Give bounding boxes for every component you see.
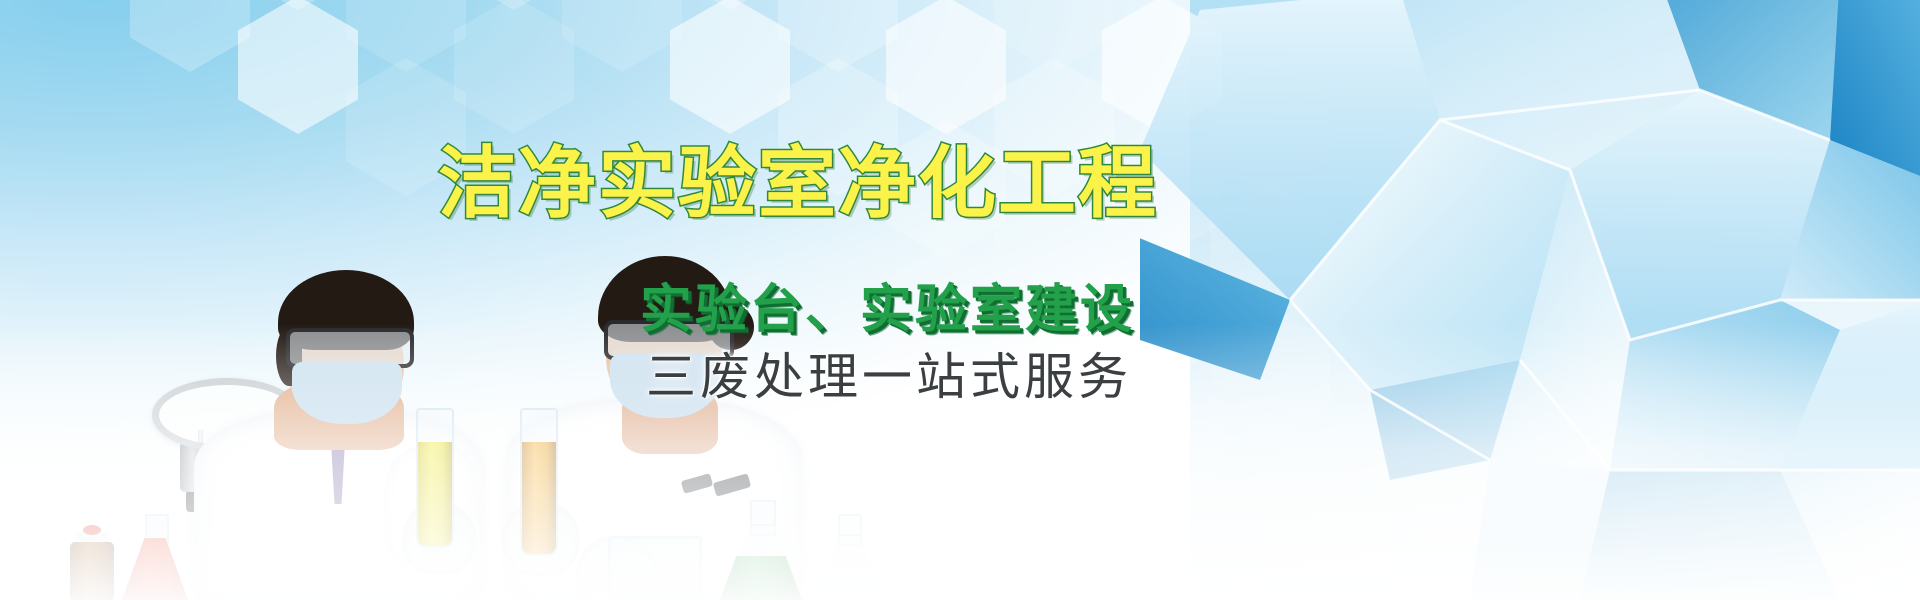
banner-subheadline: 实验台、实验室建设	[640, 282, 1135, 338]
lab-purification-banner: 洁净实验室净化工程 实验台、实验室建设 三废处理一站式服务	[0, 0, 1920, 600]
banner-tagline: 三废处理一站式服务	[646, 350, 1132, 404]
banner-headline: 洁净实验室净化工程	[438, 142, 1158, 224]
banner-copy: 洁净实验室净化工程 实验台、实验室建设 三废处理一站式服务	[0, 0, 1920, 600]
